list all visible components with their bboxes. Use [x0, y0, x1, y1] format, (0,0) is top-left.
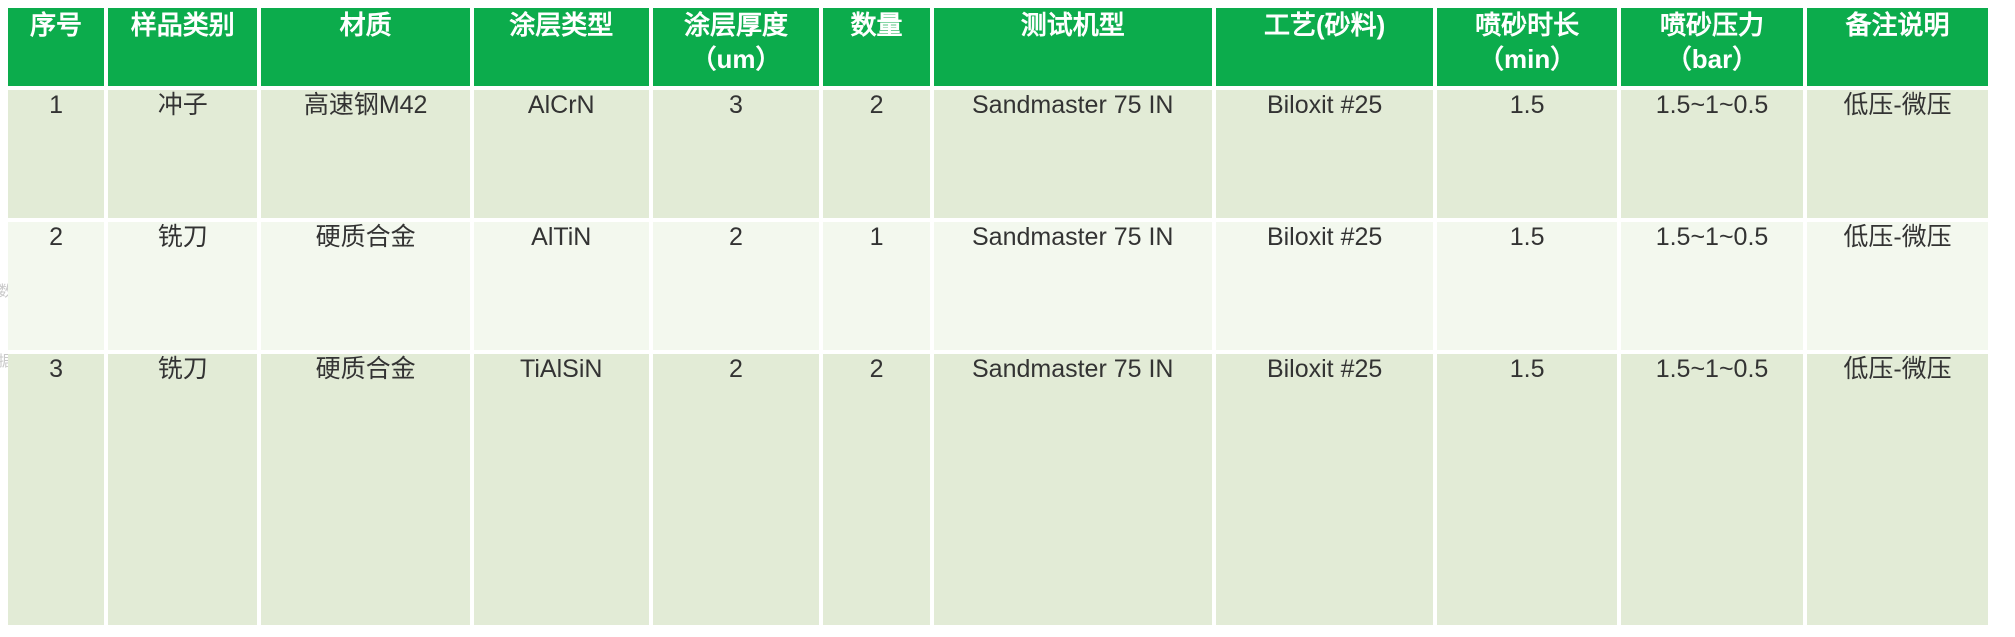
- cell-seq: 1: [8, 90, 104, 218]
- sample-test-table: 序号 样品类别 材质 涂层类型 涂层厚度 （um） 数量 测试机型 工艺(砂料)…: [4, 4, 1992, 629]
- cell-remark: 低压-微压: [1807, 222, 1988, 350]
- cell-thickness: 2: [653, 354, 820, 625]
- cell-thickness: 2: [653, 222, 820, 350]
- cell-pressure: 1.5~1~0.5: [1621, 354, 1803, 625]
- cell-coating: AlTiN: [474, 222, 649, 350]
- table-header: 序号 样品类别 材质 涂层类型 涂层厚度 （um） 数量 测试机型 工艺(砂料)…: [8, 8, 1988, 86]
- table-row: 1 冲子 高速钢M42 AlCrN 3 2 Sandmaster 75 IN B…: [8, 90, 1988, 218]
- column-header-pressure: 喷砂压力 （bar）: [1621, 8, 1803, 86]
- cell-process: Biloxit #25: [1216, 90, 1434, 218]
- cell-machine: Sandmaster 75 IN: [934, 90, 1212, 218]
- cell-qty: 1: [823, 222, 929, 350]
- column-header-material: 材质: [261, 8, 470, 86]
- cell-seq: 2: [8, 222, 104, 350]
- column-header-duration: 喷砂时长 （min）: [1437, 8, 1617, 86]
- cell-process: Biloxit #25: [1216, 354, 1434, 625]
- cell-process: Biloxit #25: [1216, 222, 1434, 350]
- cell-pressure: 1.5~1~0.5: [1621, 222, 1803, 350]
- sample-test-table-container: 序号 样品类别 材质 涂层类型 涂层厚度 （um） 数量 测试机型 工艺(砂料)…: [8, 8, 1996, 631]
- cell-coating: TiAlSiN: [474, 354, 649, 625]
- column-header-seq: 序号: [8, 8, 104, 86]
- cell-material: 硬质合金: [261, 354, 470, 625]
- cell-machine: Sandmaster 75 IN: [934, 354, 1212, 625]
- cell-category: 铣刀: [108, 222, 257, 350]
- cell-remark: 低压-微压: [1807, 90, 1988, 218]
- cell-material: 硬质合金: [261, 222, 470, 350]
- cell-duration: 1.5: [1437, 90, 1617, 218]
- cell-material: 高速钢M42: [261, 90, 470, 218]
- cell-seq: 3: [8, 354, 104, 625]
- cell-qty: 2: [823, 354, 929, 625]
- column-header-coating: 涂层类型: [474, 8, 649, 86]
- cell-remark: 低压-微压: [1807, 354, 1988, 625]
- column-header-category: 样品类别: [108, 8, 257, 86]
- column-header-qty: 数量: [823, 8, 929, 86]
- column-header-machine: 测试机型: [934, 8, 1212, 86]
- cell-category: 铣刀: [108, 354, 257, 625]
- cell-category: 冲子: [108, 90, 257, 218]
- cell-thickness: 3: [653, 90, 820, 218]
- cell-coating: AlCrN: [474, 90, 649, 218]
- cell-qty: 2: [823, 90, 929, 218]
- cell-duration: 1.5: [1437, 222, 1617, 350]
- table-header-row: 序号 样品类别 材质 涂层类型 涂层厚度 （um） 数量 测试机型 工艺(砂料)…: [8, 8, 1988, 86]
- column-header-process: 工艺(砂料): [1216, 8, 1434, 86]
- cell-pressure: 1.5~1~0.5: [1621, 90, 1803, 218]
- column-header-thickness: 涂层厚度 （um）: [653, 8, 820, 86]
- table-row: 3 铣刀 硬质合金 TiAlSiN 2 2 Sandmaster 75 IN B…: [8, 354, 1988, 625]
- column-header-remark: 备注说明: [1807, 8, 1988, 86]
- cell-machine: Sandmaster 75 IN: [934, 222, 1212, 350]
- table-body: 1 冲子 高速钢M42 AlCrN 3 2 Sandmaster 75 IN B…: [8, 90, 1988, 625]
- cell-duration: 1.5: [1437, 354, 1617, 625]
- table-row: 2 铣刀 硬质合金 AlTiN 2 1 Sandmaster 75 IN Bil…: [8, 222, 1988, 350]
